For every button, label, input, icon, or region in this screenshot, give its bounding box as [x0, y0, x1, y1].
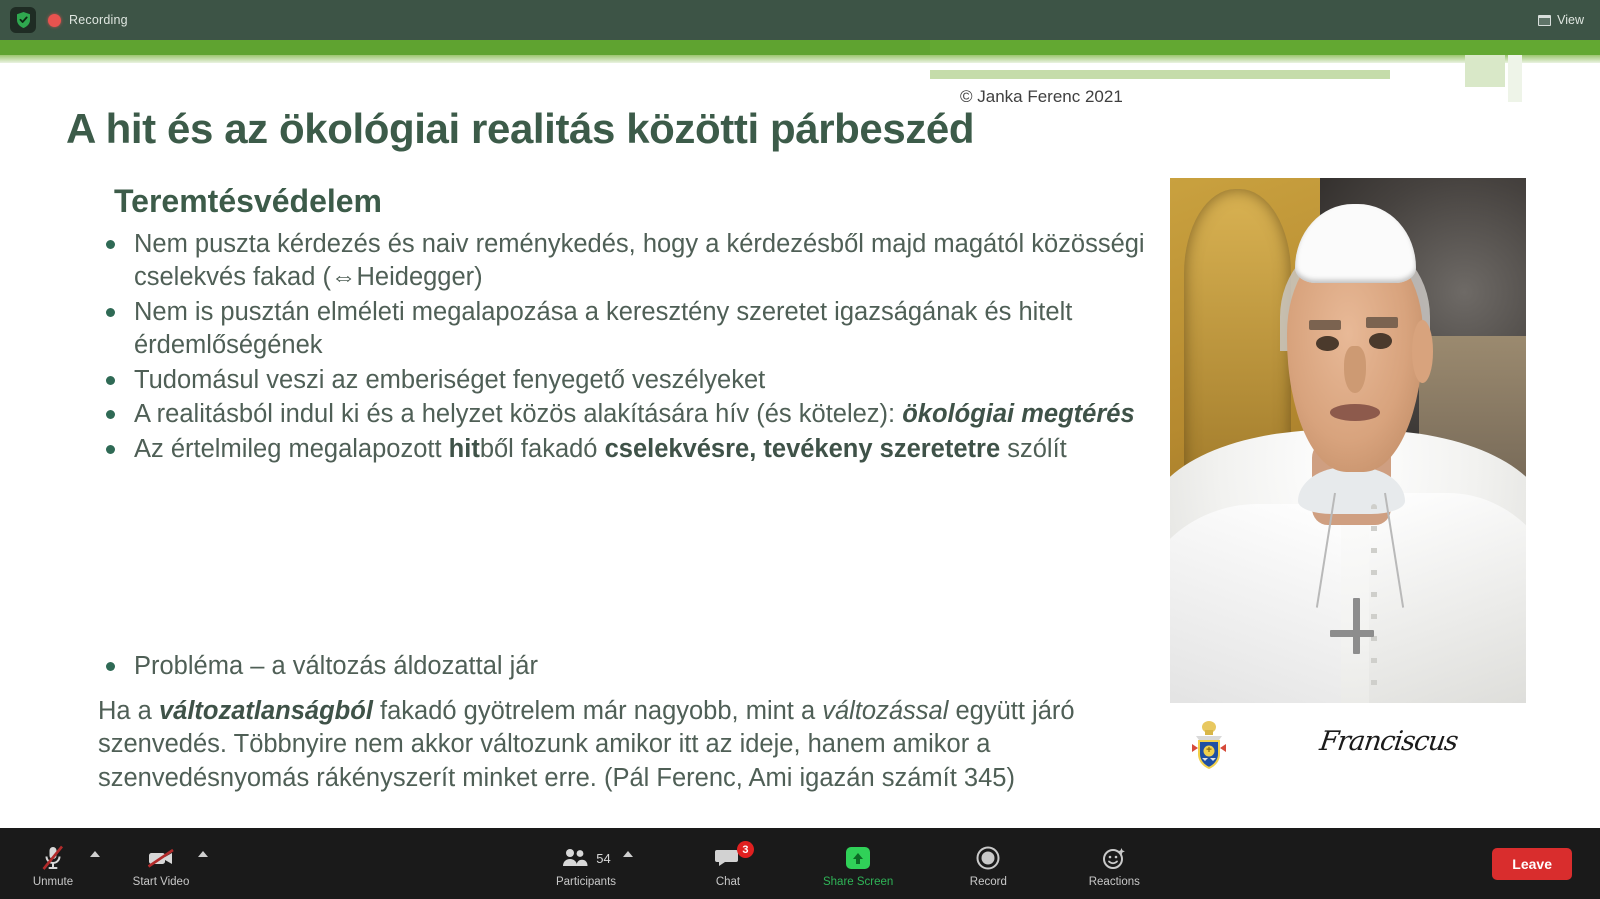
share-screen-icon	[846, 843, 870, 873]
bullet-text-1: Nem is pusztán elméleti megalapozása a k…	[134, 298, 1072, 359]
portrait-shoulder-left	[1170, 504, 1341, 704]
participants-options-chevron-up-icon[interactable]	[623, 851, 633, 857]
recording-label: Recording	[69, 13, 128, 27]
papal-signature: Franciscus	[1318, 726, 1459, 757]
share-up-arrow-glyph	[852, 852, 864, 865]
portrait-eyebrow-left	[1309, 320, 1341, 331]
slide-body: Nem puszta kérdezés és naiv reménykedés,…	[98, 228, 1148, 468]
slide-title: A hit és az ökológiai realitás közötti p…	[66, 105, 974, 153]
portrait-shoulder-right	[1369, 493, 1526, 703]
portrait-eyebrow-right	[1366, 317, 1398, 328]
unmute-button[interactable]: Unmute	[22, 839, 84, 888]
shield-check-icon[interactable]	[10, 7, 36, 33]
list-item: Nem puszta kérdezés és naiv reménykedés,…	[98, 228, 1148, 294]
camera-off-glyph	[146, 845, 176, 871]
microphone-muted-icon	[40, 843, 66, 873]
share-screen-square	[846, 847, 870, 869]
participants-label: Participants	[556, 876, 616, 888]
paragraph-text: Ha a változatlanságból fakadó gyötrelem …	[98, 697, 1075, 792]
portrait-eye-left	[1316, 336, 1339, 352]
microphone-muted-glyph	[40, 844, 66, 872]
participants-button[interactable]: 54 Participants	[555, 839, 617, 888]
slide-banner-segment-c	[1465, 55, 1505, 87]
share-screen-label: Share Screen	[823, 876, 893, 888]
shield-check-glyph	[15, 11, 32, 29]
unmute-group: Unmute	[22, 839, 100, 888]
pope-francis-portrait	[1170, 178, 1526, 703]
portrait-pectoral-cross-horizontal	[1330, 630, 1374, 637]
view-button[interactable]: View	[1538, 13, 1590, 27]
portrait-eye-right	[1369, 333, 1392, 349]
grid-view-icon	[1538, 15, 1551, 26]
meeting-top-bar: Recording View	[0, 0, 1600, 40]
shared-screen-slide: © Janka Ferenc 2021 A hit és az ökológia…	[0, 40, 1600, 828]
slide-banner-green-right	[930, 40, 1600, 55]
view-label: View	[1557, 13, 1584, 27]
zoom-meeting-window: Recording View © Janka Ferenc 2021 A hit…	[0, 0, 1600, 899]
bullet-text-4: Az értelmileg megalapozott hitből fakadó…	[134, 435, 1067, 463]
toolbar-center-group: 54 Participants 3 Chat	[208, 839, 1492, 888]
problem-bullet-list: Probléma – a változás áldozattal jár	[98, 650, 1158, 683]
list-item: Az értelmileg megalapozott hitből fakadó…	[98, 433, 1148, 466]
participants-icon: 54	[561, 843, 610, 873]
meeting-toolbar: Unmute Start Video	[0, 828, 1600, 899]
slide-banner-segment-a	[930, 63, 1470, 70]
record-label: Record	[970, 876, 1007, 888]
start-video-label: Start Video	[133, 876, 190, 888]
portrait-cassock-buttons	[1371, 504, 1377, 693]
toolbar-right-group: Leave	[1492, 848, 1600, 880]
list-item: A realitásból indul ki és a helyzet közö…	[98, 398, 1148, 431]
participants-count: 54	[596, 851, 610, 866]
chat-button[interactable]: 3 Chat	[697, 839, 759, 888]
bullet-text-2: Tudomásul veszi az emberiséget fenyegető…	[134, 366, 765, 394]
portrait-nose	[1344, 346, 1365, 393]
chat-unread-badge: 3	[737, 841, 754, 858]
portrait-mouth	[1330, 404, 1380, 421]
slide-copyright: © Janka Ferenc 2021	[960, 87, 1123, 107]
reactions-glyph	[1101, 845, 1127, 871]
participants-group: 54 Participants	[555, 839, 633, 888]
chat-label: Chat	[716, 876, 740, 888]
record-dot-icon	[48, 14, 61, 27]
record-circle-icon	[975, 843, 1001, 873]
portrait-pectoral-cross-vertical	[1353, 598, 1360, 654]
slide-banner-segment-b	[930, 70, 1390, 79]
list-item: Nem is pusztán elméleti megalapozása a k…	[98, 296, 1148, 362]
recording-indicator[interactable]: Recording	[48, 13, 128, 27]
reactions-icon	[1101, 843, 1127, 873]
top-bar-left-group: Recording	[10, 7, 128, 33]
slide-closing-block: Probléma – a változás áldozattal jár Ha …	[98, 650, 1158, 795]
list-item: Tudomásul veszi az emberiséget fenyegető…	[98, 364, 1148, 397]
reactions-label: Reactions	[1089, 876, 1140, 888]
unmute-label: Unmute	[33, 876, 73, 888]
bullet-list: Nem puszta kérdezés és naiv reménykedés,…	[98, 228, 1148, 466]
leave-button[interactable]: Leave	[1492, 848, 1572, 880]
bullet-text-3: A realitásból indul ki és a helyzet közö…	[134, 400, 1135, 428]
chat-bubble-icon: 3	[714, 843, 742, 873]
bullet-text-0: Nem puszta kérdezés és naiv reménykedés,…	[134, 230, 1145, 291]
start-video-button[interactable]: Start Video	[130, 839, 192, 888]
video-options-chevron-up-icon[interactable]	[198, 851, 208, 857]
reactions-button[interactable]: Reactions	[1083, 839, 1145, 888]
participants-glyph	[561, 847, 591, 869]
share-screen-button[interactable]: Share Screen	[823, 839, 893, 888]
list-item: Probléma – a változás áldozattal jár	[98, 650, 1158, 683]
toolbar-left-group: Unmute Start Video	[0, 839, 208, 888]
start-video-group: Start Video	[130, 839, 208, 888]
camera-off-icon	[146, 843, 176, 873]
slide-subheading: Teremtésvédelem	[114, 183, 382, 220]
record-button[interactable]: Record	[957, 839, 1019, 888]
slide-banner-light	[0, 55, 1600, 63]
papal-coat-of-arms-icon	[1188, 720, 1230, 774]
problem-bullet-text: Probléma – a változás áldozattal jár	[134, 652, 538, 680]
record-circle-glyph	[975, 845, 1001, 871]
slide-banner-segment-d	[1508, 55, 1522, 102]
slide-paragraph: Ha a változatlanságból fakadó gyötrelem …	[98, 695, 1158, 795]
audio-options-chevron-up-icon[interactable]	[90, 851, 100, 857]
